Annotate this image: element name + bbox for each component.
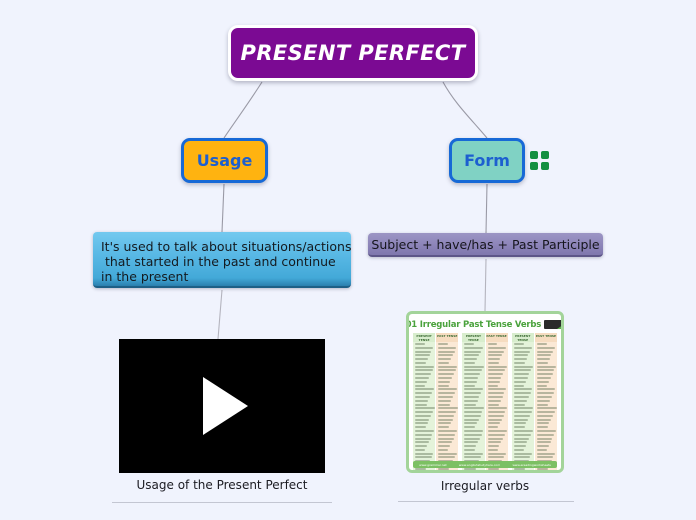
form-formula-label: Subject + have/has + Past Participle: [371, 237, 599, 252]
verb-row: [514, 385, 524, 387]
verb-row: [415, 419, 429, 421]
verb-row: [438, 404, 450, 406]
grid-dot-top-left: [530, 151, 538, 159]
verb-column-header-past: PAST TENSE: [535, 333, 557, 342]
chart-logo-badge: [544, 320, 564, 329]
verb-row: [488, 400, 501, 402]
verb-row: [514, 449, 524, 451]
verb-row: [488, 404, 500, 406]
form-formula-box[interactable]: Subject + have/has + Past Participle: [368, 233, 603, 257]
verb-row: [537, 369, 555, 371]
verb-row: [537, 347, 555, 349]
verb-row: [415, 441, 429, 443]
verb-row: [488, 430, 507, 432]
verb-row: [514, 373, 530, 375]
verb-row: [537, 438, 553, 440]
verb-row: [514, 407, 534, 409]
verb-row: [488, 347, 506, 349]
verb-row: [464, 377, 478, 379]
verb-row: [488, 445, 500, 447]
verb-row: [415, 388, 434, 390]
verb-row: [464, 392, 481, 394]
verb-row: [488, 381, 500, 383]
verb-column-group: PRESENT TENSE PAST TENSE: [462, 333, 507, 471]
verb-row: [464, 373, 480, 375]
verb-column-rows: [462, 342, 484, 471]
verb-row: [488, 388, 507, 390]
verb-row: [415, 354, 430, 356]
verb-row: [537, 377, 551, 379]
irregular-verbs-footer: www.grammar.net www.englishstudyhere.com…: [413, 461, 557, 468]
verb-row: [537, 381, 549, 383]
verb-row: [537, 343, 547, 345]
verb-row: [415, 400, 428, 402]
verb-row: [514, 396, 529, 398]
verb-row: [415, 453, 433, 455]
verb-row: [415, 396, 430, 398]
verb-column-rows: [512, 342, 534, 471]
verb-row: [415, 404, 427, 406]
play-icon[interactable]: [203, 377, 248, 435]
verb-row: [464, 407, 484, 409]
branch-node-usage[interactable]: Usage: [181, 138, 268, 183]
verb-row: [415, 411, 433, 413]
verb-column-header-past: PAST TENSE: [436, 333, 458, 342]
grid-dot-bottom-right: [541, 162, 549, 170]
verb-row: [488, 422, 501, 424]
verb-row: [438, 426, 449, 428]
verb-row: [438, 343, 448, 345]
verb-row: [488, 419, 502, 421]
verb-row: [415, 426, 426, 428]
verb-row: [415, 366, 434, 368]
verb-row: [514, 366, 533, 368]
irregular-verbs-columns: PRESENT TENSE PAST TENSE PRESENT TENSE P…: [413, 333, 557, 471]
verb-column-header-past: PAST TENSE: [486, 333, 508, 342]
usage-description-line-2: that started in the past and continue: [101, 254, 343, 269]
verb-row: [537, 392, 554, 394]
usage-description-box[interactable]: It's used to talk about situations/actio…: [93, 232, 351, 288]
verb-row: [514, 434, 531, 436]
verb-row: [488, 354, 503, 356]
verb-row: [464, 430, 483, 432]
video-caption-divider: [112, 502, 332, 503]
verb-row: [537, 445, 549, 447]
root-node-present-perfect[interactable]: PRESENT PERFECT: [228, 25, 478, 81]
verb-row: [438, 434, 455, 436]
verb-column-header-present: PRESENT TENSE: [512, 333, 534, 342]
verb-row: [464, 354, 479, 356]
verb-column-present: PRESENT TENSE: [462, 333, 484, 471]
verb-row: [464, 422, 477, 424]
verb-row: [415, 385, 425, 387]
verb-row: [464, 404, 476, 406]
verb-row: [537, 354, 552, 356]
verb-row: [438, 411, 456, 413]
verb-row: [415, 422, 428, 424]
verb-column-group: PRESENT TENSE PAST TENSE: [512, 333, 557, 471]
verb-row: [415, 369, 433, 371]
verb-row: [488, 434, 505, 436]
grid-dot-bottom-left: [530, 162, 538, 170]
verb-column-rows: [436, 342, 458, 471]
irregular-verbs-chart[interactable]: 101 Irregular Past Tense Verbs PRESENT T…: [406, 311, 564, 473]
verb-row: [514, 415, 530, 417]
verb-row: [488, 441, 502, 443]
verb-row: [464, 362, 475, 364]
image-caption: Irregular verbs: [406, 473, 564, 493]
verb-row: [537, 400, 550, 402]
verb-row: [537, 388, 556, 390]
grid-4-dots-icon[interactable]: [530, 151, 549, 170]
verb-row: [537, 351, 553, 353]
verb-row: [438, 407, 458, 409]
verb-row: [488, 411, 506, 413]
irregular-verbs-title: 101 Irregular Past Tense Verbs: [406, 320, 541, 330]
verb-row: [438, 419, 452, 421]
verb-row: [415, 415, 431, 417]
verb-column-rows: [413, 342, 435, 471]
verb-row: [537, 373, 553, 375]
verb-row: [438, 392, 455, 394]
verb-row: [514, 377, 528, 379]
video-caption: Usage of the Present Perfect: [119, 473, 325, 492]
verb-row: [464, 438, 480, 440]
verb-row: [464, 366, 483, 368]
verb-row: [537, 434, 554, 436]
verb-row: [415, 362, 426, 364]
usage-description-line-1: It's used to talk about situations/actio…: [101, 239, 343, 254]
verb-row: [514, 347, 532, 349]
verb-row: [537, 419, 551, 421]
usage-description-line-3: in the present: [101, 269, 343, 284]
verb-row: [438, 445, 450, 447]
verb-row: [514, 343, 524, 345]
root-node-label: PRESENT PERFECT: [241, 41, 466, 65]
verb-row: [415, 430, 434, 432]
verb-row: [488, 456, 505, 458]
verb-row: [464, 358, 477, 360]
footer-text-3: www.ereadingworksheets: [512, 463, 550, 467]
verb-row: [464, 347, 482, 349]
verb-row: [514, 456, 531, 458]
verb-row: [415, 377, 429, 379]
verb-row: [415, 343, 425, 345]
verb-row: [438, 400, 451, 402]
verb-row: [514, 358, 527, 360]
verb-row: [514, 426, 525, 428]
verb-row: [438, 381, 450, 383]
verb-row: [514, 392, 531, 394]
verb-row: [415, 468, 426, 470]
verb-row: [514, 381, 526, 383]
verb-row: [488, 407, 508, 409]
verb-row: [464, 456, 481, 458]
verb-row: [514, 419, 528, 421]
verb-row: [415, 381, 427, 383]
verb-row: [464, 400, 477, 402]
verb-row: [514, 411, 532, 413]
verb-row: [438, 369, 456, 371]
verb-row: [415, 449, 425, 451]
image-attachment-irregular-verbs[interactable]: 101 Irregular Past Tense Verbs PRESENT T…: [406, 311, 564, 493]
verb-row: [438, 438, 454, 440]
verb-row: [438, 358, 451, 360]
verb-row: [514, 354, 529, 356]
verb-row: [464, 388, 483, 390]
verb-row: [514, 400, 527, 402]
video-thumbnail[interactable]: [119, 339, 325, 473]
verb-row: [537, 449, 547, 451]
verb-row: [488, 362, 499, 364]
verb-row: [488, 392, 505, 394]
verb-row: [488, 351, 504, 353]
verb-row: [488, 373, 504, 375]
grid-dot-top-right: [541, 151, 549, 159]
verb-row: [537, 422, 550, 424]
verb-row: [537, 404, 549, 406]
verb-row: [488, 449, 498, 451]
verb-row: [537, 441, 551, 443]
verb-row: [438, 449, 448, 451]
verb-row: [464, 343, 474, 345]
footer-text-1: www.grammar.net: [419, 463, 447, 467]
verb-row: [415, 392, 432, 394]
verb-row: [537, 366, 556, 368]
verb-row: [514, 422, 527, 424]
video-attachment[interactable]: Usage of the Present Perfect: [119, 339, 325, 492]
verb-row: [438, 347, 456, 349]
verb-row: [488, 426, 499, 428]
verb-row: [438, 415, 454, 417]
verb-row: [464, 449, 474, 451]
verb-row: [537, 468, 548, 470]
irregular-verbs-title-row: 101 Irregular Past Tense Verbs: [413, 318, 557, 331]
verb-row: [488, 369, 506, 371]
verb-row: [488, 377, 502, 379]
verb-row: [438, 362, 449, 364]
branch-node-form[interactable]: Form: [449, 138, 525, 183]
verb-row: [415, 456, 432, 458]
verb-row: [464, 434, 481, 436]
verb-row: [438, 373, 454, 375]
verb-column-present: PRESENT TENSE: [512, 333, 534, 471]
verb-row: [438, 468, 449, 470]
verb-column-present: PRESENT TENSE: [413, 333, 435, 471]
verb-row: [514, 430, 533, 432]
verb-row: [438, 385, 448, 387]
verb-row: [488, 453, 506, 455]
verb-row: [438, 396, 453, 398]
verb-row: [464, 369, 482, 371]
verb-row: [514, 453, 532, 455]
verb-row: [464, 441, 478, 443]
verb-column-past: PAST TENSE: [486, 333, 508, 471]
verb-row: [464, 351, 480, 353]
verb-row: [514, 468, 525, 470]
verb-row: [488, 366, 507, 368]
verb-row: [464, 445, 476, 447]
verb-column-past: PAST TENSE: [436, 333, 458, 471]
verb-row: [464, 453, 482, 455]
verb-row: [514, 445, 526, 447]
verb-row: [514, 351, 530, 353]
verb-row: [537, 430, 556, 432]
verb-column-group: PRESENT TENSE PAST TENSE: [413, 333, 458, 471]
verb-row: [464, 411, 482, 413]
verb-row: [537, 362, 548, 364]
verb-row: [537, 415, 553, 417]
verb-row: [537, 426, 548, 428]
verb-row: [488, 385, 498, 387]
verb-row: [415, 407, 435, 409]
verb-row: [537, 407, 557, 409]
verb-row: [438, 453, 456, 455]
footer-text-2: www.englishstudyhere.com: [459, 463, 500, 467]
branch-node-form-label: Form: [464, 151, 510, 170]
verb-row: [415, 438, 431, 440]
verb-row: [464, 468, 475, 470]
verb-row: [514, 441, 528, 443]
verb-row: [464, 396, 479, 398]
verb-row: [464, 415, 480, 417]
verb-row: [514, 404, 526, 406]
verb-column-past: PAST TENSE: [535, 333, 557, 471]
verb-row: [415, 445, 427, 447]
verb-row: [438, 366, 457, 368]
verb-column-rows: [486, 342, 508, 471]
verb-row: [438, 388, 457, 390]
verb-row: [488, 343, 498, 345]
verb-row: [438, 430, 457, 432]
verb-row: [438, 441, 452, 443]
verb-column-rows: [535, 342, 557, 471]
verb-column-header-present: PRESENT TENSE: [413, 333, 435, 342]
verb-row: [488, 358, 501, 360]
verb-row: [537, 453, 555, 455]
verb-row: [464, 385, 474, 387]
verb-row: [514, 369, 532, 371]
verb-row: [415, 351, 431, 353]
verb-row: [537, 456, 554, 458]
verb-row: [415, 373, 431, 375]
verb-row: [438, 422, 451, 424]
mindmap-canvas: PRESENT PERFECT Usage Form It's used to …: [0, 0, 696, 520]
verb-row: [438, 351, 454, 353]
verb-row: [438, 456, 455, 458]
verb-row: [464, 419, 478, 421]
verb-row: [488, 468, 499, 470]
verb-row: [464, 381, 476, 383]
verb-row: [514, 362, 525, 364]
verb-row: [514, 388, 533, 390]
verb-row: [415, 358, 428, 360]
verb-column-header-present: PRESENT TENSE: [462, 333, 484, 342]
verb-row: [537, 411, 555, 413]
branch-node-usage-label: Usage: [197, 151, 253, 170]
verb-row: [537, 358, 550, 360]
verb-row: [488, 415, 504, 417]
verb-row: [488, 396, 503, 398]
image-caption-divider: [398, 501, 574, 502]
verb-row: [415, 434, 432, 436]
verb-row: [415, 347, 433, 349]
verb-row: [514, 438, 530, 440]
verb-row: [488, 438, 504, 440]
verb-row: [438, 354, 453, 356]
verb-row: [438, 377, 452, 379]
verb-row: [464, 426, 475, 428]
verb-row: [537, 385, 547, 387]
verb-row: [537, 396, 552, 398]
